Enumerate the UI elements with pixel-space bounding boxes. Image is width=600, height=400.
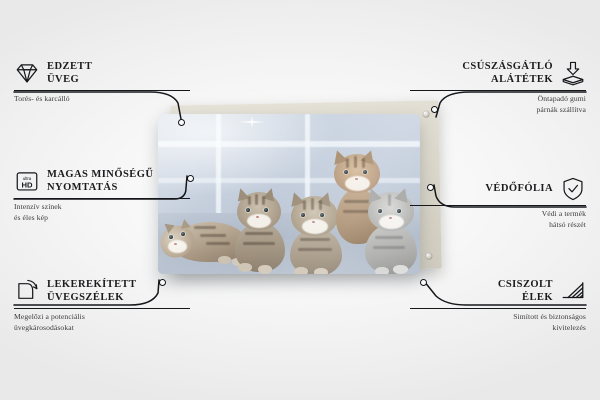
infographic-canvas: EDZETT ÜVEG Torés- és karcálló ultra HD …: [0, 0, 600, 400]
divider: [14, 308, 190, 309]
hatched-triangle-icon: [560, 278, 586, 304]
feature-tempered-glass: EDZETT ÜVEG Torés- és karcálló: [14, 60, 190, 105]
product-image: [158, 103, 448, 298]
svg-text:HD: HD: [21, 181, 33, 190]
feature-title: MAGAS MINŐSÉGŰ NYOMTATÁS: [47, 168, 153, 195]
feature-title: CSISZOLT ÉLEK: [498, 278, 553, 305]
glass-sparkle: [239, 116, 265, 128]
callout-hub-film: [427, 184, 434, 191]
feature-rounded-glass-edges: LEKEREKÍTETT ÜVEGSZÉLEK Megelőzi a poten…: [14, 278, 190, 334]
rounded-corner-icon: [14, 278, 40, 304]
feature-subtitle: Torés- és karcálló: [14, 94, 190, 105]
press-pad-icon: [560, 60, 586, 86]
feature-subtitle: Intenzív színek és éles kép: [14, 202, 190, 224]
feature-title: LEKEREKÍTETT ÜVEGSZÉLEK: [47, 278, 136, 305]
diamond-icon: [14, 60, 40, 86]
divider: [410, 90, 586, 91]
callout-hub-print: [187, 175, 194, 182]
feature-title: VÉDŐFÓLIA: [485, 182, 553, 195]
callout-hub-anti-slip: [431, 106, 438, 113]
feature-subtitle: Öntapadó gumi párnák szállítva: [410, 94, 586, 116]
feature-polished-edges: CSISZOLT ÉLEK Simított és biztonságos ki…: [410, 278, 586, 334]
callout-hub-rounded-edges: [159, 279, 166, 286]
ultra-hd-icon: ultra HD: [14, 168, 40, 194]
callout-hub-tempered-glass: [178, 119, 185, 126]
feature-subtitle: Megelőzi a potenciális üvegkárosodásokat: [14, 312, 190, 334]
divider: [14, 90, 190, 91]
feature-high-quality-print: ultra HD MAGAS MINŐSÉGŰ NYOMTATÁS Intenz…: [14, 168, 190, 224]
kitten-2: [231, 188, 287, 272]
divider: [410, 308, 586, 309]
feature-protective-film: VÉDŐFÓLIA Védi a termék hátsó részét: [410, 176, 586, 231]
divider: [410, 205, 586, 206]
feature-title: CSÚSZÁSGÁTLÓ ALÁTÉTEK: [462, 60, 553, 87]
shield-check-icon: [560, 176, 586, 202]
kitten-photo: [158, 114, 420, 274]
divider: [14, 198, 190, 199]
mounting-hole: [425, 253, 432, 260]
tempered-glass-panel: [158, 114, 420, 274]
feature-title: EDZETT ÜVEG: [47, 60, 92, 87]
feature-subtitle: Védi a termék hátsó részét: [410, 209, 586, 231]
feature-subtitle: Simított és biztonságos kivitelezés: [410, 312, 586, 334]
callout-hub-polished-edges: [420, 279, 427, 286]
